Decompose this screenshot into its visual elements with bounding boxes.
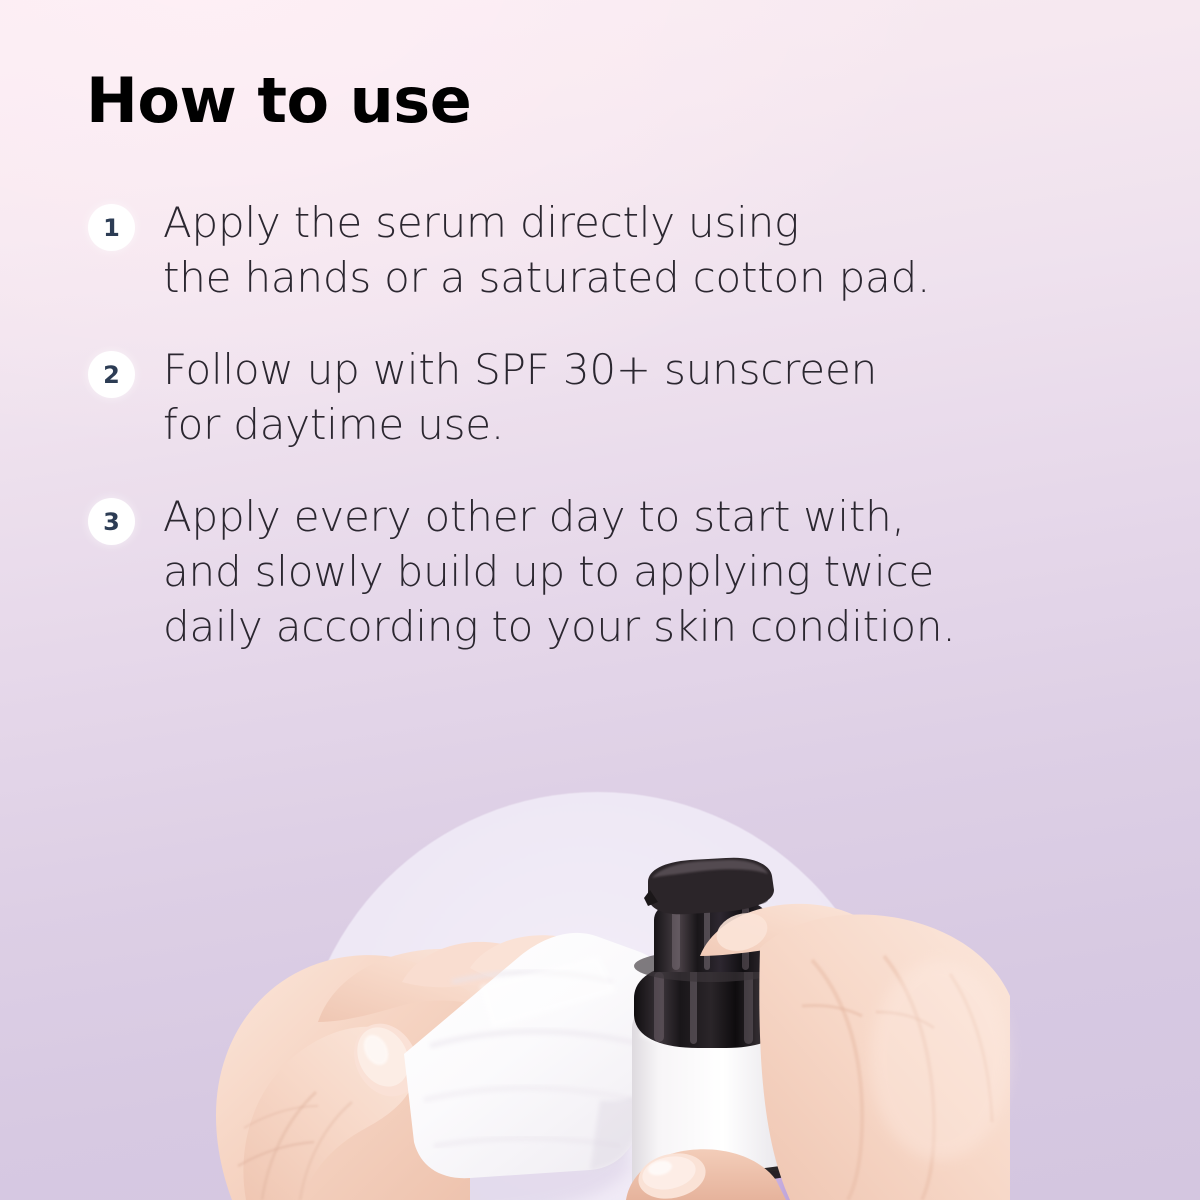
list-item: 3 Apply every other day to start with, a… [88,490,1108,654]
list-item: 1 Apply the serum directly using the han… [88,196,1108,305]
step-text: Apply the serum directly using the hands… [163,196,930,305]
step-number-badge: 1 [88,204,135,251]
steps-list: 1 Apply the serum directly using the han… [88,196,1108,654]
step-text: Follow up with SPF 30+ sunscreen for day… [163,343,877,452]
photo-stage [0,760,1200,1200]
step-number-badge: 2 [88,351,135,398]
step-text: Apply every other day to start with, and… [163,490,955,654]
page-title: How to use [86,70,471,132]
list-item: 2 Follow up with SPF 30+ sunscreen for d… [88,343,1108,452]
hands-with-cotton-pad-and-serum-illustration [0,760,1200,1200]
product-usage-photo: Two hands holding a white cotton pad and… [0,760,1200,1200]
step-number-badge: 3 [88,498,135,545]
how-to-use-infographic: How to use 1 Apply the serum directly us… [0,0,1200,1200]
